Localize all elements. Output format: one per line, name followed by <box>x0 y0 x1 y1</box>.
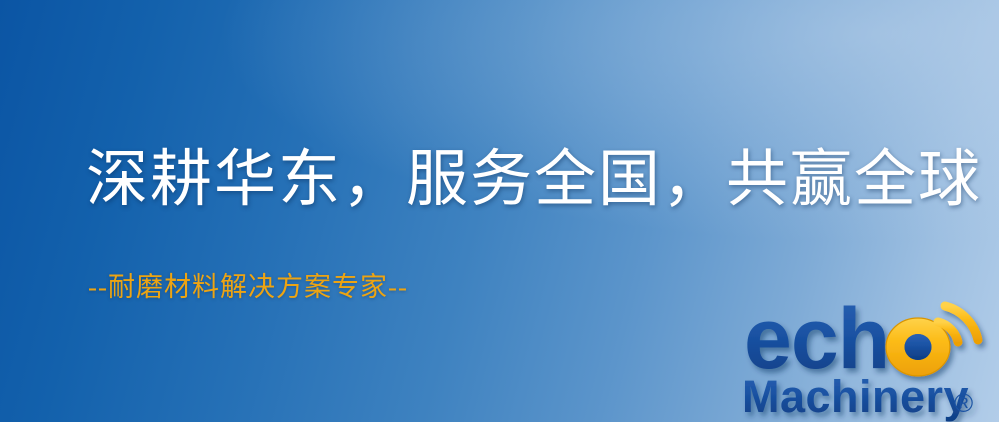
registered-trademark-icon: ® <box>954 388 973 418</box>
banner-headline: 深耕华东，服务全国，共赢全球 <box>86 148 982 213</box>
company-logo: ech Machinery ® <box>742 296 999 422</box>
logo-text-machinery: Machinery <box>742 371 969 422</box>
banner-subheadline: --耐磨材料解决方案专家-- <box>88 265 408 304</box>
logo-tagline-group: Machinery ® <box>742 371 973 422</box>
logo-artwork: ech Machinery ® <box>742 296 999 422</box>
promo-banner: 深耕华东，服务全国，共赢全球 --耐磨材料解决方案专家-- <box>0 0 999 422</box>
